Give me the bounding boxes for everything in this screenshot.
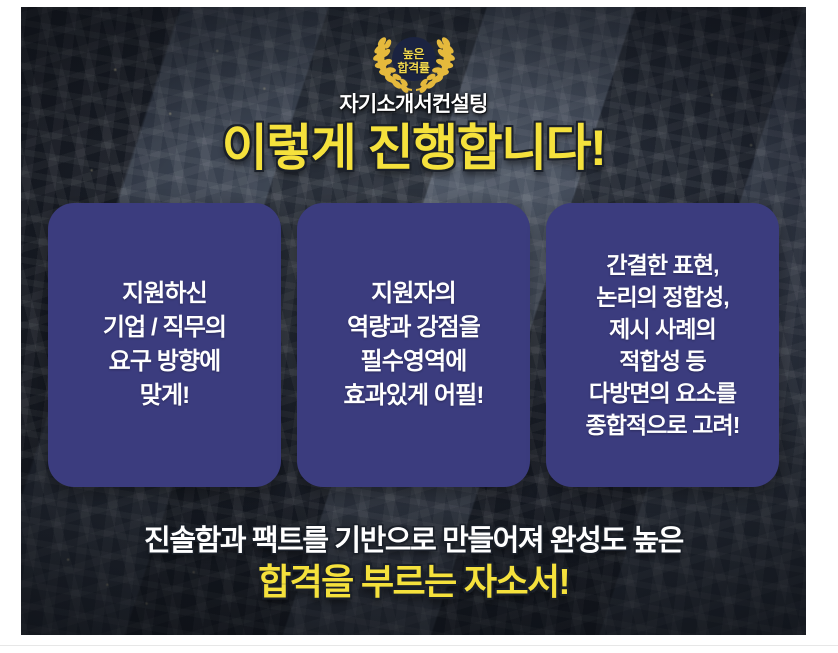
card-text-line: 지원하신 (122, 277, 207, 311)
card-text-line: 맞게! (140, 379, 189, 413)
slogan-block: 진솔함과 팩트를 기반으로 만들어져 완성도 높은 합격을 부르는 자소서! (21, 523, 806, 604)
card-text-line: 기업 / 직무의 (103, 311, 226, 345)
banner-page: 높은 합격률 자기소개서컨설팅 이렇게 진행합니다! 지원하신 기업 / 직무의… (0, 0, 838, 653)
slogan-line-highlight: 합격을 부르는 자소서! (21, 560, 806, 604)
card-text-line: 간결한 표현, (606, 249, 718, 281)
info-card-strength: 지원자의 역량과 강점을 필수영역에 효과있게 어필! (297, 203, 530, 487)
card-text-line: 종합적으로 고려! (585, 409, 739, 441)
card-text-line: 필수영역에 (361, 345, 467, 379)
headline-block: 자기소개서컨설팅 이렇게 진행합니다! (21, 93, 806, 177)
info-card-direction: 지원하신 기업 / 직무의 요구 방향에 맞게! (48, 203, 281, 487)
page-divider (0, 645, 838, 646)
slogan-line-primary: 진솔함과 팩트를 기반으로 만들어져 완성도 높은 (21, 523, 806, 559)
card-text-line: 적합성 등 (619, 345, 706, 377)
banner-title: 이렇게 진행합니다! (21, 119, 806, 177)
info-card-review: 간결한 표현, 논리의 정합성, 제시 사례의 적합성 등 다방면의 요소를 종… (546, 203, 779, 487)
card-text-line: 요구 방향에 (109, 345, 221, 379)
banner-subtitle: 자기소개서컨설팅 (21, 93, 806, 117)
card-text-line: 지원자의 (371, 277, 456, 311)
promo-banner: 높은 합격률 자기소개서컨설팅 이렇게 진행합니다! 지원하신 기업 / 직무의… (21, 7, 806, 635)
card-text-line: 효과있게 어필! (344, 379, 484, 413)
card-list: 지원하신 기업 / 직무의 요구 방향에 맞게! 지원자의 역량과 강점을 필수… (48, 203, 779, 487)
laurel-wreath-badge-icon: 높은 합격률 (360, 25, 468, 97)
card-text-line: 논리의 정합성, (596, 281, 729, 313)
card-text-line: 제시 사례의 (609, 313, 716, 345)
card-text-line: 다방면의 요소를 (589, 377, 736, 409)
card-text-line: 역량과 강점을 (347, 311, 480, 345)
